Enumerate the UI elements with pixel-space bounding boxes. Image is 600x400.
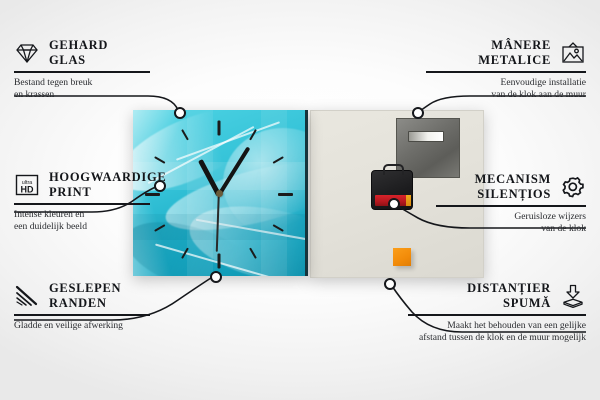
battery-terminal	[406, 195, 411, 206]
callout-rule	[14, 71, 150, 73]
callout-rule	[14, 314, 150, 316]
clock-hand-cap	[216, 190, 223, 197]
clock-tick	[218, 121, 221, 136]
callout-description: Intense kleuren en een duidelijk beeld	[14, 209, 150, 233]
infographic-canvas: GEHARD GLAS Bestand tegen breuk en krass…	[0, 0, 600, 400]
foam-spacer-part	[393, 248, 411, 266]
callout-title: GESLEPEN RANDEN	[49, 281, 121, 311]
callout-title: HOOGWAARDIGE PRINT	[49, 170, 166, 200]
battery	[375, 195, 409, 206]
hanger-slot	[408, 131, 444, 142]
callout-manere-metalice[interactable]: MÂNERE METALICE Eenvoudige installatie v…	[426, 38, 586, 101]
gear-icon	[560, 175, 586, 199]
callout-description: Geruisloze wijzers van de klok	[436, 211, 586, 235]
callout-description: Maakt het behouden van een gelijke afsta…	[408, 320, 586, 344]
callout-gehard-glas[interactable]: GEHARD GLAS Bestand tegen breuk en krass…	[14, 38, 150, 101]
callout-description: Eenvoudige installatie van de klok aan d…	[426, 77, 586, 101]
callout-geslepen-randen[interactable]: GESLEPEN RANDEN Gladde en veilige afwerk…	[14, 281, 150, 332]
callout-description: Bestand tegen breuk en krassen	[14, 77, 150, 101]
glass-reflection-band	[187, 110, 213, 276]
callout-mecanism-silentios[interactable]: MECANISM SILENȚIOS Geruisloze wijzers va…	[436, 172, 586, 235]
callout-rule	[14, 203, 150, 205]
callout-hoogwaardige-print[interactable]: ultra HD HOOGWAARDIGE PRINT Intense kleu…	[14, 170, 150, 233]
press-down-layers-icon	[560, 284, 586, 308]
callout-title: MÂNERE METALICE	[478, 38, 551, 68]
picture-hanger-icon	[560, 41, 586, 65]
callout-title: GEHARD GLAS	[49, 38, 108, 68]
callout-rule	[436, 205, 586, 207]
callout-rule	[408, 314, 586, 316]
callout-description: Gladde en veilige afwerking	[14, 320, 150, 332]
clock-tick	[218, 254, 221, 269]
clock-mechanism-part	[371, 170, 413, 210]
callout-title: DISTANȚIER SPUMĂ	[467, 281, 551, 311]
callout-distantier-spuma[interactable]: DISTANȚIER SPUMĂ Maakt het behouden van …	[408, 281, 586, 344]
metal-hanger-part	[396, 118, 460, 178]
callout-title: MECANISM SILENȚIOS	[475, 172, 551, 202]
clock-tick	[278, 193, 293, 196]
mechanism-loop	[383, 164, 404, 175]
callout-rule	[426, 71, 586, 73]
ultra-hd-icon: ultra HD	[14, 173, 40, 197]
svg-text:HD: HD	[21, 185, 34, 195]
diamond-icon	[14, 41, 40, 65]
bevelled-edge-icon	[14, 284, 40, 308]
